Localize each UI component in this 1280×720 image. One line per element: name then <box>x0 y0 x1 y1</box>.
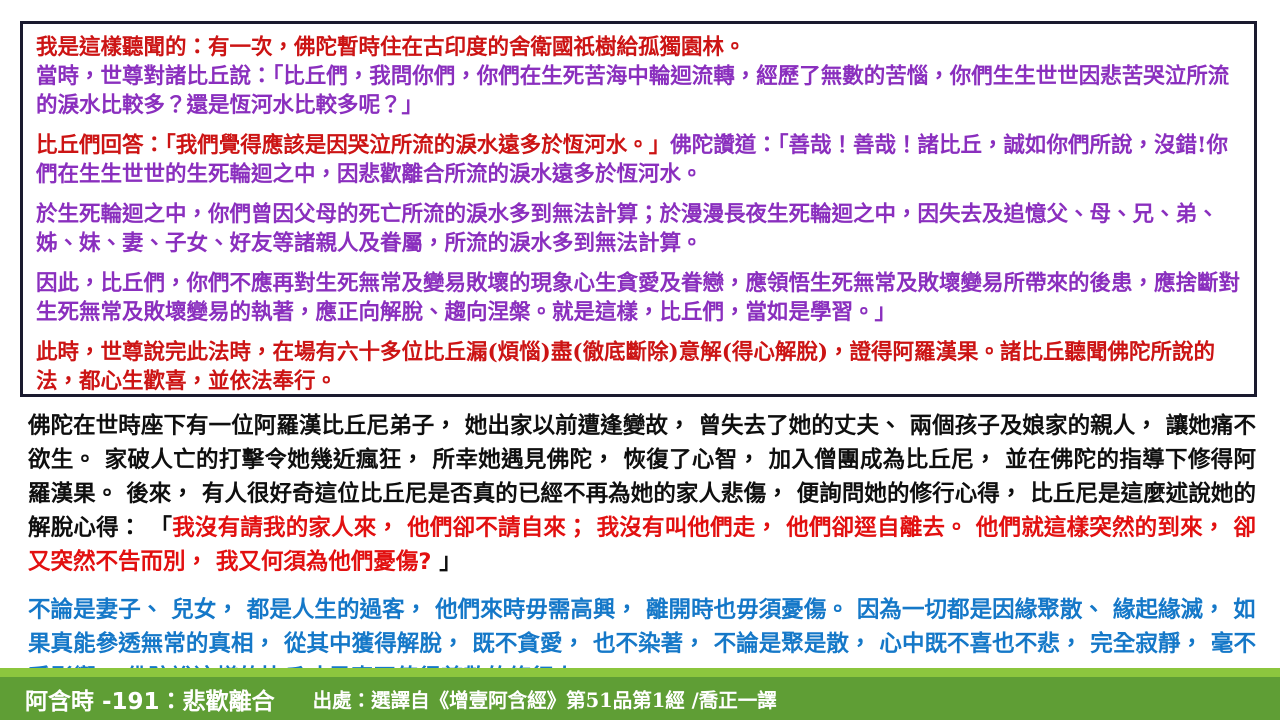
commentary-paragraph-story: 佛陀在世時座下有一位阿羅漢比丘尼弟子， 她出家以前遭逢變故， 曾失去了她的丈夫、… <box>28 409 1256 579</box>
commentary-run-quote-close: 」 <box>431 549 461 575</box>
sutra-run-red: 比丘們回答：「我們覺得應該是因哭泣所流的淚水遠多於恆河水。」 <box>36 133 670 158</box>
sutra-paragraph-exhortation: 因此，比丘們，你們不應再對生死無常及變易敗壞的現象心生貪愛及眷戀，應領悟生死無常… <box>36 269 1240 327</box>
sutra-run-purple: 因此，比丘們，你們不應再對生死無常及變易敗壞的現象心生貪愛及眷戀，應領悟生死無常… <box>36 271 1240 325</box>
sutra-paragraph-samsara-tears: 於生死輪迴之中，你們曾因父母的死亡所流的淚水多到無法計算；於漫漫長夜生死輪迴之中… <box>36 200 1240 258</box>
sutra-quote-box: 我是這樣聽聞的：有一次，佛陀暫時住在古印度的舍衛國祇樹給孤獨園林。 當時，世尊對… <box>20 21 1257 397</box>
commentary-run-quote: 我沒有請我的家人來， 他們卻不請自來； 我沒有叫他們走， 他們卻逕自離去。 他們… <box>28 515 1256 575</box>
sutra-paragraph-conclusion: 此時，世尊說完此法時，在場有六十多位比丘漏(煩惱)盡(徹底斷除)意解(得心解脫)… <box>36 338 1240 396</box>
sutra-paragraph-opening: 我是這樣聽聞的：有一次，佛陀暫時住在古印度的舍衛國祇樹給孤獨園林。 當時，世尊對… <box>36 33 1240 120</box>
sutra-run-purple: 於生死輪迴之中，你們曾因父母的死亡所流的淚水多到無法計算；於漫漫長夜生死輪迴之中… <box>36 202 1219 256</box>
sutra-paragraph-bhikkhus-reply: 比丘們回答：「我們覺得應該是因哭泣所流的淚水遠多於恆河水。」佛陀讚道：「善哉！善… <box>36 131 1240 189</box>
footer-title: 阿含時 -191：悲歡離合 <box>25 682 275 716</box>
sutra-run-red: 我是這樣聽聞的：有一次，佛陀暫時住在古印度的舍衛國祇樹給孤獨園林。 <box>36 35 746 60</box>
footer-bar: 阿含時 -191：悲歡離合 出處：選譯自《增壹阿含經》第51品第1經 /喬正一譯 <box>0 677 1280 720</box>
footer-source: 出處：選譯自《增壹阿含經》第51品第1經 /喬正一譯 <box>313 684 777 713</box>
sutra-run-red: 此時，世尊說完此法時，在場有六十多位比丘漏(煩惱)盡(徹底斷除)意解(得心解脫)… <box>36 340 1215 394</box>
commentary-section: 佛陀在世時座下有一位阿羅漢比丘尼弟子， 她出家以前遭逢變故， 曾失去了她的丈夫、… <box>28 409 1256 709</box>
sutra-run-purple: 當時，世尊對諸比丘說：「比丘們，我問你們，你們在生死苦海中輪迴流轉，經歷了無數的… <box>36 64 1229 118</box>
footer-accent-line <box>0 668 1280 677</box>
